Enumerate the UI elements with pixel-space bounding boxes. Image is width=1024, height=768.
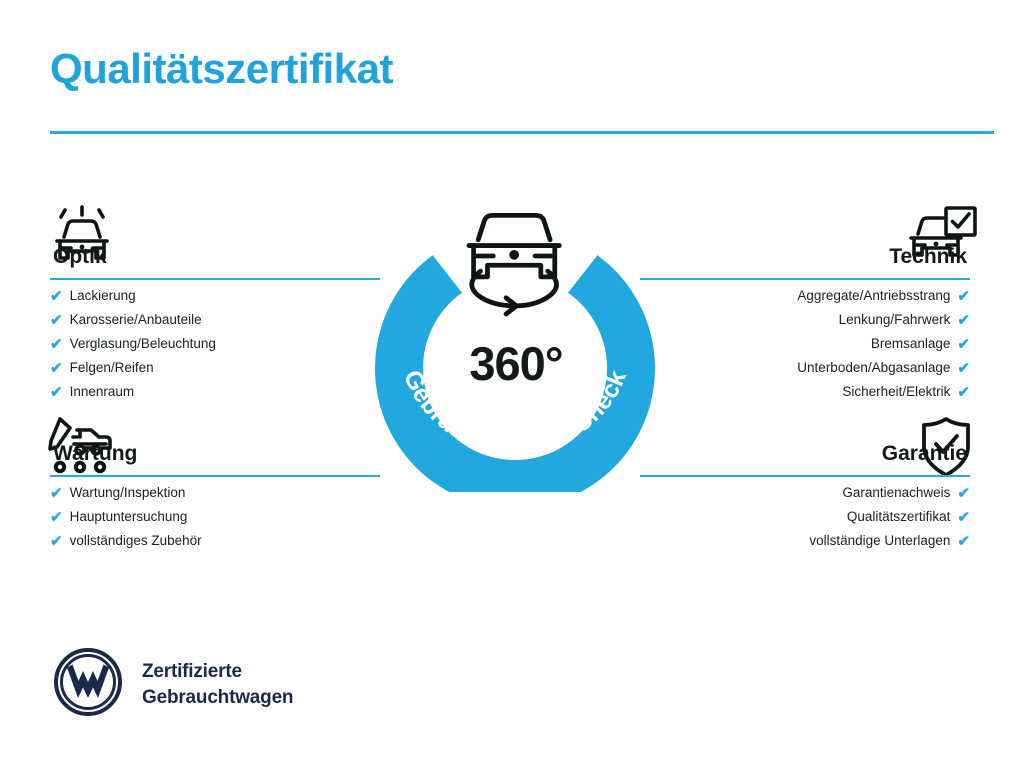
list-item-label: Felgen/Reifen (70, 356, 154, 380)
footer-line-2: Gebrauchtwagen (142, 685, 293, 711)
list-item-label: Lenkung/Fahrwerk (839, 308, 951, 332)
check-icon: ✔ (50, 313, 63, 328)
section-garantie-title: Garantie (640, 437, 970, 471)
list-item: ✔Lackierung (50, 284, 380, 308)
list-item: vollständige Unterlagen✔ (640, 529, 970, 553)
section-wartung: Wartung ✔Wartung/Inspektion ✔Hauptunters… (50, 437, 380, 553)
section-optik: Optik ✔Lackierung ✔Karosserie/Anbauteile… (50, 240, 380, 404)
section-garantie: Garantie Garantienachweis✔ Qualitätszert… (640, 437, 970, 553)
section-wartung-title: Wartung (50, 437, 380, 471)
check-icon: ✔ (50, 534, 63, 549)
section-optik-header: Optik (50, 240, 380, 284)
list-item: ✔vollständiges Zubehör (50, 529, 380, 553)
list-item-label: vollständiges Zubehör (70, 529, 202, 553)
list-item-label: Innenraum (70, 380, 135, 404)
list-item-label: Unterboden/Abgasanlage (797, 356, 950, 380)
check-icon: ✔ (957, 534, 970, 549)
list-item: Sicherheit/Elektrik✔ (640, 380, 970, 404)
360-check-badge: Gebrauchtwagen-Check 360° (375, 192, 655, 492)
section-optik-list: ✔Lackierung ✔Karosserie/Anbauteile ✔Verg… (50, 284, 380, 404)
check-icon: ✔ (50, 486, 63, 501)
list-item: Unterboden/Abgasanlage✔ (640, 356, 970, 380)
check-icon: ✔ (50, 510, 63, 525)
section-wartung-underline (50, 475, 380, 477)
list-item: ✔Verglasung/Beleuchtung (50, 332, 380, 356)
list-item-label: Sicherheit/Elektrik (842, 380, 950, 404)
check-icon: ✔ (957, 510, 970, 525)
page-title: Qualitätszertifikat (50, 48, 393, 90)
vw-logo (52, 646, 124, 723)
list-item-label: vollständige Unterlagen (809, 529, 950, 553)
car-rotation-icon (469, 215, 559, 314)
section-garantie-list: Garantienachweis✔ Qualitätszertifikat✔ v… (640, 481, 970, 553)
list-item: Garantienachweis✔ (640, 481, 970, 505)
list-item: ✔Wartung/Inspektion (50, 481, 380, 505)
section-wartung-list: ✔Wartung/Inspektion ✔Hauptuntersuchung ✔… (50, 481, 380, 553)
check-icon: ✔ (50, 361, 63, 376)
list-item-label: Qualitätszertifikat (847, 505, 951, 529)
check-icon: ✔ (957, 313, 970, 328)
check-icon: ✔ (957, 486, 970, 501)
section-garantie-underline (640, 475, 970, 477)
list-item-label: Bremsanlage (871, 332, 951, 356)
list-item: ✔Innenraum (50, 380, 380, 404)
section-optik-underline (50, 278, 380, 280)
list-item-label: Garantienachweis (842, 481, 950, 505)
list-item-label: Hauptuntersuchung (70, 505, 188, 529)
footer-text: Zertifizierte Gebrauchtwagen (142, 659, 293, 711)
section-technik-underline (640, 278, 970, 280)
section-garantie-header: Garantie (640, 437, 970, 481)
footer-branding: Zertifizierte Gebrauchtwagen (52, 646, 293, 723)
list-item: ✔Hauptuntersuchung (50, 505, 380, 529)
check-icon: ✔ (957, 361, 970, 376)
title-divider (50, 131, 994, 134)
list-item: Aggregate/Antriebsstrang✔ (640, 284, 970, 308)
list-item: ✔Felgen/Reifen (50, 356, 380, 380)
section-technik: Technik Aggregate/Antriebsstrang✔ Lenkun… (640, 240, 970, 404)
list-item: ✔Karosserie/Anbauteile (50, 308, 380, 332)
section-wartung-header: Wartung (50, 437, 380, 481)
check-icon: ✔ (957, 289, 970, 304)
check-icon: ✔ (957, 385, 970, 400)
section-technik-header: Technik (640, 240, 970, 284)
list-item: Lenkung/Fahrwerk✔ (640, 308, 970, 332)
list-item-label: Karosserie/Anbauteile (70, 308, 202, 332)
list-item-label: Aggregate/Antriebsstrang (797, 284, 950, 308)
list-item-label: Wartung/Inspektion (70, 481, 186, 505)
section-technik-list: Aggregate/Antriebsstrang✔ Lenkung/Fahrwe… (640, 284, 970, 404)
list-item: Bremsanlage✔ (640, 332, 970, 356)
check-icon: ✔ (50, 385, 63, 400)
section-technik-title: Technik (640, 240, 970, 274)
check-icon: ✔ (957, 337, 970, 352)
footer-line-1: Zertifizierte (142, 659, 293, 685)
list-item-label: Lackierung (70, 284, 136, 308)
check-icon: ✔ (50, 337, 63, 352)
check-icon: ✔ (50, 289, 63, 304)
list-item-label: Verglasung/Beleuchtung (70, 332, 216, 356)
list-item: Qualitätszertifikat✔ (640, 505, 970, 529)
section-optik-title: Optik (50, 240, 380, 274)
